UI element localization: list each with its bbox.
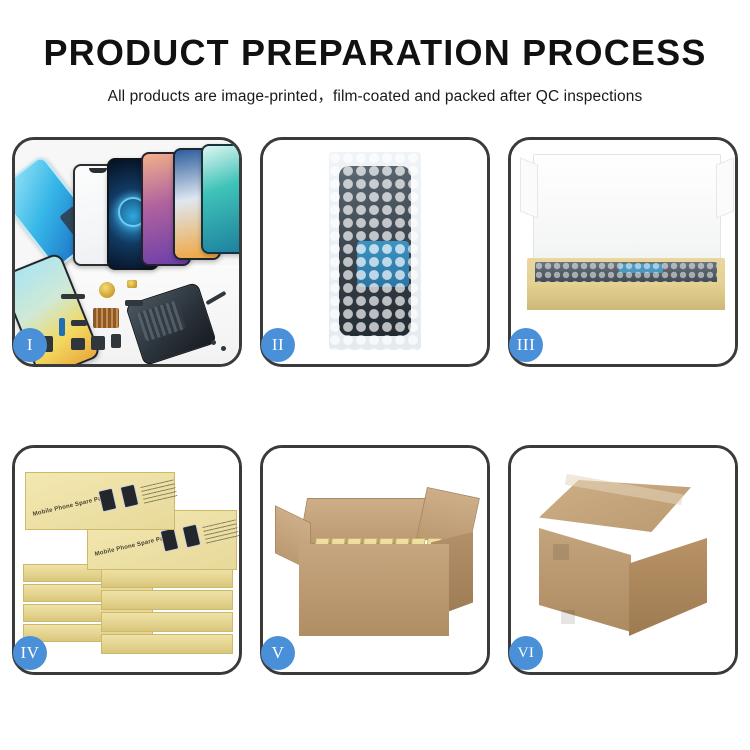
step-2-image	[263, 140, 487, 364]
carton-tab-lower	[561, 610, 575, 624]
packed-contents	[535, 262, 717, 284]
step-5-image	[263, 448, 487, 672]
stacked-box-r3	[101, 590, 233, 610]
step-number-badge-2: II	[261, 328, 295, 362]
step-1-image	[15, 140, 239, 364]
step-number-badge-1: I	[13, 328, 47, 362]
page-header: PRODUCT PREPARATION PROCESS All products…	[0, 0, 750, 106]
step-6-image	[511, 448, 735, 672]
step-4-image: Mobile Phone Spare Parts Mobile Phone Sp…	[15, 448, 239, 672]
process-step-2: II	[260, 137, 490, 367]
part-speaker-coil	[99, 282, 115, 298]
stacked-box-r5	[101, 634, 233, 654]
carton-right-face	[629, 538, 707, 636]
step-number-badge-4: IV	[13, 636, 47, 670]
step-number-badge-5: V	[261, 636, 295, 670]
bubble-texture	[329, 152, 421, 350]
page-title: PRODUCT PREPARATION PROCESS	[0, 34, 750, 72]
step-number-badge-6: VI	[509, 636, 543, 670]
page-subtitle: All products are image-printed，film-coat…	[0, 84, 750, 106]
box-front-wall	[527, 282, 725, 310]
stacked-box-r2	[101, 568, 233, 588]
part-button-set	[111, 334, 121, 348]
process-step-grid: I II III	[12, 137, 738, 675]
process-step-5: V	[260, 445, 490, 675]
printed-box-back: Mobile Phone Spare Parts	[25, 472, 175, 530]
part-vibrator	[91, 336, 105, 350]
carton-front-wall	[299, 544, 449, 636]
blue-label	[619, 264, 663, 273]
part-screw-b	[221, 346, 226, 351]
part-flex-cable-b	[71, 320, 87, 326]
part-camera-module	[71, 338, 85, 350]
process-step-6: VI	[508, 445, 738, 675]
box-lid	[533, 154, 721, 268]
part-flex-cable-a	[59, 318, 65, 336]
part-gold-contact	[127, 280, 137, 288]
part-screw-a	[211, 340, 216, 345]
phone-screen-teal	[201, 144, 239, 254]
process-step-3: III	[508, 137, 738, 367]
part-copper-grid	[93, 308, 119, 328]
part-flex-cable-c	[125, 300, 143, 306]
box-tray	[527, 258, 725, 310]
step-3-image	[511, 140, 735, 364]
stacked-box-r4	[101, 612, 233, 632]
carton-tab-upper	[553, 544, 569, 560]
step-number-badge-3: III	[509, 328, 543, 362]
process-step-1: I	[12, 137, 242, 367]
part-connector-strip	[61, 294, 85, 299]
bubble-wrap-sleeve	[329, 152, 421, 350]
process-step-4: Mobile Phone Spare Parts Mobile Phone Sp…	[12, 445, 242, 675]
